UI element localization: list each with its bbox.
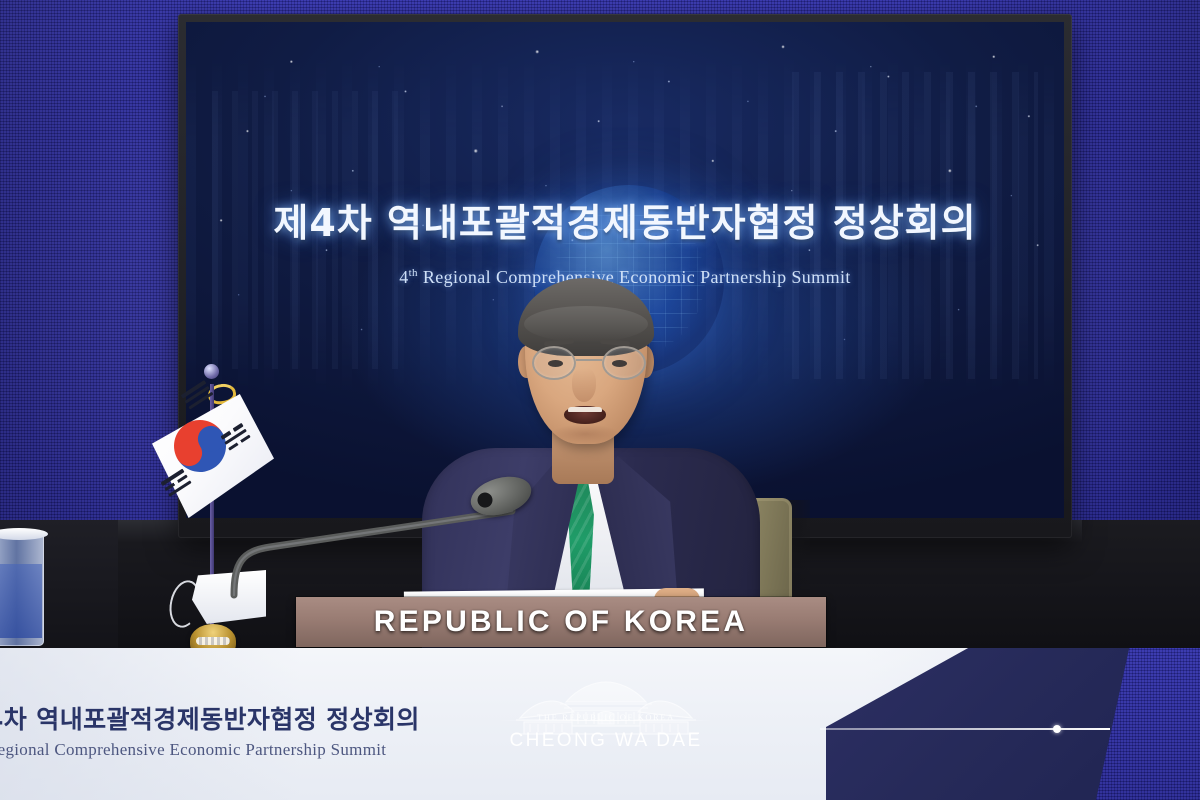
mouth bbox=[564, 406, 606, 424]
lens-right bbox=[602, 346, 646, 380]
nose bbox=[572, 368, 596, 402]
hair bbox=[518, 278, 654, 356]
banner-subtitle-english: Regional Comprehensive Economic Partners… bbox=[0, 740, 386, 760]
panel-accent-line bbox=[820, 728, 1110, 730]
flag-finial bbox=[204, 364, 219, 379]
summit-title-korean: 제4차 역내포괄적경제동반자협정 정상회의 bbox=[186, 192, 1064, 247]
glasses-bridge bbox=[576, 359, 602, 361]
emblem-supertitle: THE REPUBLIC OF KOREA bbox=[498, 712, 714, 722]
panel-accent-dot bbox=[1053, 725, 1061, 733]
nameplate-label: REPUBLIC OF KOREA bbox=[374, 605, 748, 639]
lens-left bbox=[532, 346, 576, 380]
country-nameplate: REPUBLIC OF KOREA bbox=[296, 597, 826, 647]
microphone-arm bbox=[228, 503, 528, 599]
emblem-name: CHEONG WA DAE bbox=[498, 730, 714, 752]
water-glass-contents bbox=[0, 564, 42, 638]
chin-shadow bbox=[550, 424, 620, 444]
banner-title-korean: 4차 역내포괄적경제동반자협정 정상회의 bbox=[0, 700, 420, 736]
